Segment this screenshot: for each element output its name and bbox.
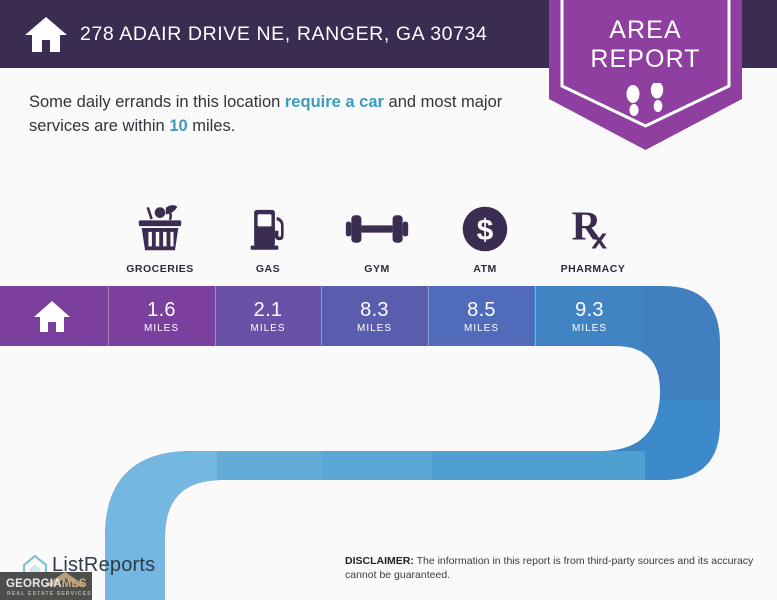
distance-unit: MILES	[144, 322, 179, 335]
gas-pump-icon	[213, 200, 323, 258]
footprints-icon	[620, 83, 672, 119]
category-gym: GYM	[322, 200, 432, 275]
cell-divider	[535, 286, 536, 348]
cell-divider	[215, 286, 216, 348]
badge-line-1: AREA	[549, 16, 742, 45]
category-icon-row: GROCERIES GAS	[105, 200, 685, 282]
area-report-page: 278 ADAIR DRIVE NE, RANGER, GA 30734 ARE…	[0, 0, 777, 600]
category-label: PHARMACY	[538, 263, 648, 275]
disclaimer-label: DISCLAIMER:	[345, 555, 414, 567]
distance-value: 8.3	[360, 300, 389, 321]
category-atm: $ ATM	[430, 200, 540, 275]
distance-cell-pharmacy: 9.3 MILES	[535, 286, 644, 348]
summary-part-1: Some daily errands in this location	[29, 93, 285, 111]
category-pharmacy: R x PHARMACY	[538, 200, 648, 275]
distance-unit: MILES	[572, 322, 607, 335]
distance-cell-atm: 8.5 MILES	[428, 286, 535, 348]
category-label: GROCERIES	[105, 263, 215, 275]
svg-text:x: x	[591, 224, 607, 254]
page-title: 278 ADAIR DRIVE NE, RANGER, GA 30734	[80, 0, 487, 68]
dumbbell-icon	[322, 200, 432, 258]
summary-highlight-1: require a car	[285, 93, 384, 111]
category-label: GYM	[322, 263, 432, 275]
disclaimer: DISCLAIMER: The information in this repo…	[345, 554, 755, 582]
home-icon	[33, 299, 71, 333]
rx-icon: R x	[538, 200, 648, 258]
distance-cell-gas: 2.1 MILES	[215, 286, 321, 348]
distance-unit: MILES	[464, 322, 499, 335]
dollar-circle-icon: $	[430, 200, 540, 258]
category-gas: GAS	[213, 200, 323, 275]
category-label: GAS	[213, 263, 323, 275]
mls-subtitle: REAL ESTATE SERVICES	[7, 591, 92, 597]
distance-value: 1.6	[147, 300, 176, 321]
cell-divider	[321, 286, 322, 348]
badge-line-2: REPORT	[549, 45, 742, 74]
svg-text:$: $	[477, 214, 494, 247]
mls-name: GEORGIAMLS	[6, 578, 87, 590]
home-icon	[24, 14, 68, 54]
category-label: ATM	[430, 263, 540, 275]
mls-name-mls: MLS	[62, 578, 87, 590]
mls-name-georgia: GEORGIA	[6, 578, 62, 590]
badge-title: AREA REPORT	[549, 16, 742, 74]
grocery-basket-icon	[105, 200, 215, 258]
summary-text: Some daily errands in this location requ…	[29, 90, 549, 138]
category-groceries: GROCERIES	[105, 200, 215, 275]
distance-unit: MILES	[357, 322, 392, 335]
cell-divider	[428, 286, 429, 348]
distance-value: 8.5	[467, 300, 496, 321]
distance-unit: MILES	[250, 322, 285, 335]
summary-highlight-2: 10	[169, 117, 187, 135]
summary-part-3: miles.	[188, 117, 236, 135]
distance-cell-gym: 8.3 MILES	[321, 286, 428, 348]
distance-value: 9.3	[575, 300, 604, 321]
cell-divider	[108, 286, 109, 348]
georgia-mls-watermark: GEORGIAMLS REAL ESTATE SERVICES	[0, 572, 92, 600]
distance-value: 2.1	[254, 300, 283, 321]
distance-cell-groceries: 1.6 MILES	[108, 286, 215, 348]
